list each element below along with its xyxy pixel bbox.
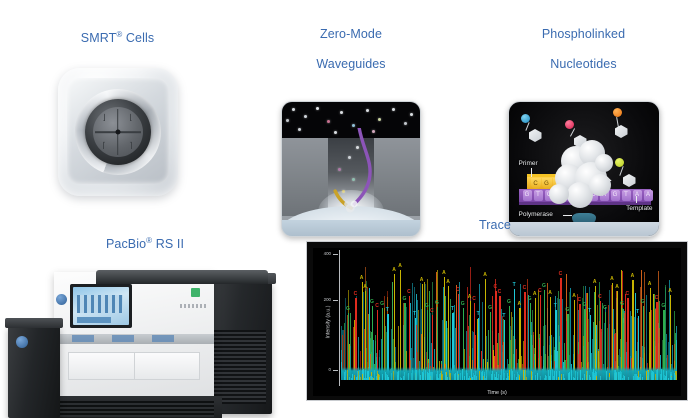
trace-noise-tick	[554, 371, 555, 380]
trace-noise-tick	[556, 374, 557, 381]
panel-phospholinked-nucleotides: Phospholinked Nucleotides	[467, 12, 700, 251]
trace-basecall-label: A	[468, 295, 472, 300]
trace-peak-a	[612, 283, 613, 380]
trace-basecall-label: A	[593, 280, 597, 285]
panel-title-zero-mode-waveguides: Zero-Mode Waveguides	[235, 12, 467, 87]
trace-y-tick-label-400: 400	[324, 251, 331, 256]
trace-y-tick-200: 200	[333, 300, 338, 301]
trace-noise-tick	[412, 370, 413, 380]
trace-basecall-label: G	[425, 304, 429, 309]
instrument-drawer[interactable]	[68, 352, 200, 380]
trace-noise-tick	[514, 374, 515, 380]
trace-basecall-label: G	[542, 284, 546, 289]
trace-noise-tick	[634, 374, 635, 380]
smrt-cell-image: ⌋ ⌊ ⌈ ⌉	[0, 64, 235, 214]
trace-basecall-label: G	[565, 308, 569, 313]
trace-noise-tick	[620, 374, 621, 380]
trace-basecall-label: T	[502, 314, 505, 319]
trace-noise-tick	[616, 373, 617, 380]
trace-noise-tick	[393, 371, 394, 380]
trace-peak-a	[394, 274, 395, 380]
trace-noise-tick	[500, 375, 501, 380]
touchscreen-display[interactable]	[73, 287, 129, 325]
trace-noise-tick	[580, 372, 581, 380]
trace-noise-tick	[429, 370, 430, 380]
trace-noise-tick	[454, 374, 455, 380]
trace-noise-tick	[476, 376, 477, 380]
trace-peak-a	[400, 270, 401, 380]
trace-peak-a	[362, 282, 363, 380]
trace-noise-tick	[512, 375, 513, 380]
smrt-cell-housing: ⌋ ⌊ ⌈ ⌉	[58, 68, 178, 196]
trace-peak-c	[560, 278, 561, 380]
instrument-main-body	[54, 272, 214, 414]
trace-noise-tick	[587, 371, 588, 380]
trace-basecall-label: C	[655, 296, 659, 301]
trace-noise-tick	[363, 369, 364, 380]
trace-noise-tick	[671, 377, 672, 380]
trace-peak-a	[422, 284, 423, 380]
strip-tab-1	[72, 335, 94, 342]
status-indicator-green	[191, 288, 200, 297]
plinth-vents	[52, 401, 214, 417]
trace-noise-tick	[464, 376, 465, 380]
trace-basecall-label: T	[588, 309, 591, 314]
trace-basecall-label: G	[603, 306, 607, 311]
trace-basecall-label: A	[572, 294, 576, 299]
trace-spike	[641, 270, 642, 380]
trace-basecall-label: A	[420, 278, 424, 283]
trace-basecall-label: G	[641, 300, 645, 305]
trace-noise-tick	[382, 376, 383, 380]
trace-noise-tick	[503, 378, 504, 380]
trace-basecall-label: G	[620, 302, 624, 307]
trace-basecall-label: G	[582, 303, 586, 308]
trace-basecall-label: C	[598, 295, 602, 300]
trace-noise-tick	[569, 372, 570, 380]
trace-basecall-label: C	[430, 309, 434, 314]
trace-noise-tick	[415, 370, 416, 380]
trace-noise-tick	[600, 376, 601, 380]
trace-basecall-label: A	[533, 292, 537, 297]
trace-spike	[424, 282, 425, 380]
trace-peak-a	[448, 286, 449, 380]
trace-noise-tick	[661, 374, 662, 380]
trace-noise-tick	[457, 371, 458, 380]
trace-noise-tick	[668, 378, 669, 380]
trace-noise-tick	[370, 376, 371, 380]
label-primer-leader	[531, 168, 532, 177]
instrument-right-cabinet	[206, 282, 272, 414]
trace-noise-tick	[537, 373, 538, 380]
trace-noise-tick	[359, 375, 360, 380]
trace-basecall-label: C	[625, 292, 629, 297]
zmw-title-line2: Waveguides	[235, 57, 467, 72]
trace-noise-tick	[437, 377, 438, 380]
trace-noise-tick	[606, 371, 607, 380]
trace-noise-tick	[466, 370, 467, 380]
instrument-wordmark	[180, 304, 208, 308]
trace-noise-tick	[575, 371, 576, 381]
trace-basecall-label: A	[615, 285, 619, 290]
trace-noise-tick	[657, 369, 658, 380]
trace-basecall-label: C	[498, 290, 502, 295]
trace-noise-tick	[636, 374, 637, 380]
instrument-plinth	[44, 396, 222, 418]
trace-noise-tick	[633, 376, 634, 380]
trace-spike	[527, 279, 528, 380]
panel-zero-mode-waveguides: Zero-Mode Waveguides	[235, 12, 467, 251]
trace-noise-tick	[471, 369, 472, 380]
trace-noise-tick	[676, 371, 677, 380]
trace-noise-tick	[609, 377, 610, 380]
trace-noise-tick	[360, 377, 361, 380]
trace-basecall-label: C	[407, 290, 411, 295]
pln-title-line2: Nucleotides	[467, 57, 700, 72]
trace-noise-tick	[674, 373, 675, 380]
zmw-title-line1: Zero-Mode	[235, 27, 467, 42]
trace-noise-tick	[371, 376, 372, 380]
trace-noise-tick	[559, 374, 560, 380]
trace-chart-canvas: Intensity (a.u.) 400 200 0 GCAAGCGTAAGCT…	[313, 248, 681, 396]
trace-noise-tick	[403, 376, 404, 380]
label-template: Template	[626, 205, 652, 212]
trace-noise-tick	[354, 377, 355, 380]
trace-peak-a	[632, 280, 633, 380]
trace-noise-tick	[592, 372, 593, 380]
trace-noise-tick	[639, 377, 640, 380]
trace-spike	[467, 287, 468, 380]
trace-basecall-label: C	[559, 272, 563, 277]
trace-basecall-label: A	[548, 291, 552, 296]
trace-noise-tick	[420, 375, 421, 380]
trace-noise-tick	[670, 374, 671, 380]
trace-noise-tick	[440, 373, 441, 381]
trace-spike	[367, 287, 368, 380]
trace-basecall-label: C	[523, 286, 527, 291]
trace-y-axis-label: Intensity (a.u.)	[325, 306, 331, 339]
trace-noise-tick	[347, 370, 348, 380]
trace-noise-tick	[577, 372, 578, 380]
smrt-title-main: SMRT	[81, 31, 117, 45]
polymerase-lobe-6	[589, 174, 611, 196]
trace-y-tick-400: 400	[333, 254, 338, 255]
trace-noise-tick	[582, 378, 583, 380]
trace-noise-tick	[467, 373, 468, 380]
trace-noise-tick	[540, 376, 541, 380]
trace-basecall-label: A	[363, 285, 367, 290]
panel-title-pacbio-rs-ii: PacBio® RS II	[0, 218, 290, 252]
panel-pacbio-rs-ii: PacBio® RS II	[0, 218, 290, 418]
trace-basecall-label: T	[451, 307, 454, 312]
trace-noise-tick	[619, 372, 620, 380]
trace-chart-frame: Intensity (a.u.) 400 200 0 GCAAGCGTAAGCT…	[306, 241, 688, 401]
trace-noise-tick	[397, 372, 398, 380]
trace-peak-a	[485, 279, 486, 380]
smrt-cell-center-dot	[115, 130, 120, 135]
trace-noise-tick	[373, 378, 374, 380]
trace-noise-tick	[561, 374, 562, 380]
trace-noise-tick	[472, 377, 473, 381]
left-module-logo-icon	[16, 336, 28, 348]
trace-noise-tick	[564, 378, 565, 380]
trace-y-tick-0: 0	[333, 370, 338, 371]
instrument-touchscreen[interactable]	[70, 284, 132, 328]
trace-noise-tick	[422, 372, 423, 380]
trace-noise-tick	[449, 377, 450, 380]
trace-basecall-label: A	[360, 276, 364, 281]
trace-basecall-label: A	[517, 302, 521, 307]
trace-basecall-label: G	[370, 300, 374, 305]
label-template-leader	[636, 196, 637, 203]
trace-noise-tick	[648, 372, 649, 381]
trace-noise-tick	[479, 371, 480, 380]
trace-basecall-label: G	[661, 304, 665, 309]
trace-noise-tick	[416, 370, 417, 380]
trace-noise-tick	[460, 373, 461, 380]
left-module-top	[5, 318, 63, 328]
smrt-cell-inner-disc: ⌋ ⌊ ⌈ ⌉	[93, 107, 143, 157]
trace-noise-tick	[404, 372, 405, 380]
polymerase-lobe-7	[549, 184, 569, 204]
trace-noise-tick	[344, 377, 345, 381]
trace-noise-tick	[367, 371, 368, 381]
trace-basecall-label: T	[413, 312, 416, 317]
trace-basecall-label: G	[461, 302, 465, 307]
smrt-cell-quadrant-mark-4: ⌉	[129, 142, 132, 150]
pln-title-line1: Phospholinked	[467, 27, 700, 42]
trace-noise-tick	[450, 373, 451, 380]
trace-noise-tick	[647, 376, 648, 380]
trace-noise-tick	[550, 370, 551, 380]
slide-root: SMRT® Cells ⌋ ⌊ ⌈ ⌉ Zero-Mode Waveg	[0, 0, 700, 418]
right-cabinet-vents	[212, 330, 266, 404]
trace-noise-tick	[665, 376, 666, 381]
trace-basecall-label: G	[435, 301, 439, 306]
panel-smrt-cells: SMRT® Cells ⌋ ⌊ ⌈ ⌉	[0, 12, 235, 214]
trace-noise-tick	[624, 376, 625, 380]
trace-basecall-label: G	[507, 300, 511, 305]
trace-noise-tick	[545, 375, 546, 380]
smrt-cell-quadrant-mark-3: ⌈	[103, 142, 106, 150]
trace-peak-a	[595, 286, 596, 380]
trace-basecall-label: A	[631, 274, 635, 279]
pacbio-title-rest: RS II	[152, 237, 184, 251]
trace-basecall-label: C	[375, 304, 379, 309]
trace-noise-tick	[622, 378, 623, 380]
zmw-diagram	[281, 101, 421, 237]
trace-basecall-label: T	[513, 283, 516, 288]
trace-noise-tick	[595, 371, 596, 381]
trace-noise-tick	[475, 371, 476, 380]
trace-noise-tick	[544, 378, 545, 380]
trace-basecall-label: G	[380, 302, 384, 307]
trace-noise-tick	[656, 370, 657, 380]
trace-basecall-label: A	[610, 277, 614, 282]
trace-basecall-label: A	[398, 264, 402, 269]
instrument-hood	[96, 270, 268, 284]
trace-noise-tick	[349, 377, 350, 380]
trace-noise-tick	[642, 377, 643, 380]
instrument-logo-icon	[56, 294, 67, 305]
pacbio-title-main: PacBio	[106, 237, 146, 251]
trace-basecall-label: G	[488, 306, 492, 311]
trace-noise-tick	[628, 377, 629, 380]
trace-noise-tick	[504, 373, 505, 380]
panel-title-trace: Trace	[290, 218, 700, 233]
trace-noise-tick	[646, 371, 647, 380]
trace-basecall-label: T	[554, 304, 557, 309]
trace-noise-tick	[401, 378, 402, 380]
trace-spike	[547, 283, 548, 380]
trace-basecall-label: T	[386, 308, 389, 313]
panel-trace: Trace Intensity (a.u.) 400 200 0 GCAAGCG…	[290, 218, 700, 411]
instrument-left-module	[8, 326, 60, 418]
trace-noise-tick	[519, 375, 520, 380]
trace-spike	[392, 282, 393, 380]
trace-y-tick-label-200: 200	[324, 297, 331, 302]
trace-noise-tick	[664, 378, 665, 381]
trace-noise-tick	[486, 370, 487, 380]
trace-noise-tick	[535, 375, 536, 380]
trace-noise-tick	[531, 371, 532, 381]
trace-basecall-label: A	[648, 282, 652, 287]
trace-basecall-label: A	[668, 289, 672, 294]
pacbio-rs-ii-image	[0, 262, 290, 418]
trace-basecall-label: C	[354, 292, 358, 297]
trace-noise-tick	[640, 374, 641, 380]
trace-noise-tick	[552, 369, 553, 380]
trace-noise-tick	[446, 375, 447, 381]
smrt-title-rest: Cells	[122, 31, 154, 45]
trace-basecall-label: C	[472, 297, 476, 302]
trace-basecall-label: A	[392, 268, 396, 273]
trace-basecall-label: A	[442, 271, 446, 276]
panel-title-smrt-cells: SMRT® Cells	[0, 12, 235, 46]
pln-diagram: G T C A G T C A G T A A C G T	[508, 101, 660, 237]
trace-y-tick-label-0: 0	[329, 367, 331, 372]
trace-noise-tick	[374, 370, 375, 380]
trace-noise-tick	[523, 370, 524, 380]
instrument-access-strip	[54, 334, 214, 344]
trace-basecall-label: T	[636, 310, 639, 315]
trace-noise-tick	[387, 375, 388, 380]
smrt-cell-quadrant-mark-2: ⌊	[129, 114, 132, 122]
trace-basecall-label: T	[477, 312, 480, 317]
label-polymerase-leader	[563, 215, 572, 216]
trace-noise-tick	[590, 377, 591, 380]
trace-noise-tick	[501, 369, 502, 380]
trace-noise-tick	[584, 374, 585, 380]
trace-noise-tick	[660, 374, 661, 380]
trace-plot-area: GCAAGCGTAAGCTAGCGAATCGACTAGCCTGTACGACGAT…	[341, 250, 677, 380]
trace-noise-tick	[432, 372, 433, 380]
trace-noise-tick	[484, 374, 485, 380]
trace-basecall-label: G	[402, 297, 406, 302]
trace-noise-tick	[506, 378, 507, 380]
trace-noise-tick	[378, 374, 379, 381]
trace-noise-tick	[442, 374, 443, 380]
trace-x-axis-label: Time (s)	[313, 390, 681, 396]
trace-basecall-label: C	[456, 288, 460, 293]
trace-noise-tick	[525, 370, 526, 380]
trace-noise-tick	[652, 371, 653, 380]
trace-noise-tick	[526, 377, 527, 380]
trace-basecall-label: C	[577, 298, 581, 303]
label-primer: Primer	[519, 160, 538, 167]
trace-noise-tick	[491, 374, 492, 380]
trace-basecall-label: C	[538, 289, 542, 294]
trace-noise-tick	[455, 373, 456, 380]
trace-noise-tick	[398, 371, 399, 380]
strip-tab-2	[112, 335, 134, 342]
trace-basecall-label: G	[528, 297, 532, 302]
polymerase-lobe-8	[595, 154, 613, 172]
trace-spike	[644, 272, 645, 380]
trace-basecall-label: A	[446, 280, 450, 285]
trace-noise-tick	[496, 372, 497, 380]
trace-noise-tick	[351, 378, 352, 380]
trace-chart-image: Intensity (a.u.) 400 200 0 GCAAGCGTAAGCT…	[290, 241, 700, 411]
trace-noise-tick	[362, 374, 363, 380]
trace-noise-tick	[509, 370, 510, 381]
strip-tab-3	[152, 335, 174, 342]
pacbio-instrument	[8, 268, 282, 418]
trace-y-axis-line	[339, 250, 340, 386]
zmw-dna-strand-svg	[329, 128, 381, 218]
trace-spike	[412, 283, 413, 380]
trace-basecall-label: G	[346, 307, 350, 312]
trace-noise-tick	[596, 376, 597, 380]
trace-noise-tick	[425, 376, 426, 380]
smrt-cell-quadrant-mark-1: ⌋	[103, 114, 106, 122]
trace-noise-tick	[517, 372, 518, 380]
trace-noise-tick	[408, 373, 409, 381]
panel-title-phospholinked-nucleotides: Phospholinked Nucleotides	[467, 12, 700, 87]
label-polymerase: Polymerase	[519, 211, 553, 218]
trace-basecall-label: A	[483, 273, 487, 278]
trace-basecall-label: C	[493, 285, 497, 290]
trace-peak-a	[444, 277, 445, 380]
